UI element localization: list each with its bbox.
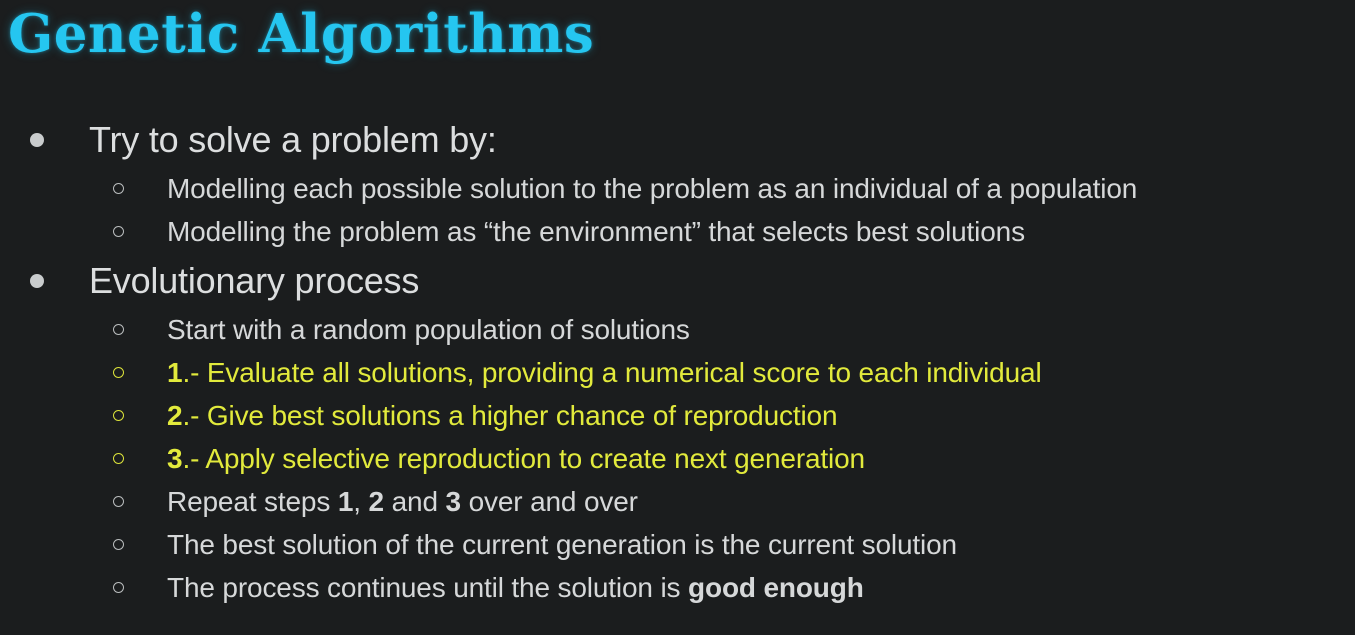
bullet-disc-icon [30,274,44,288]
bullet-row: The best solution of the current generat… [0,523,1355,566]
bullet-text: 2.- Give best solutions a higher chance … [167,394,837,437]
bullet-text: Modelling each possible solution to the … [167,167,1137,210]
bullet-text: Repeat steps 1, 2 and 3 over and over [167,480,638,523]
bullet-circle-icon [113,410,124,421]
bullet-circle-icon [113,496,124,507]
bullet-text: The best solution of the current generat… [167,523,957,566]
bullet-disc-icon [30,133,44,147]
slide: Genetic Algorithms Try to solve a proble… [0,0,1355,635]
bullet-row: 3.- Apply selective reproduction to crea… [0,437,1355,480]
bullet-circle-icon [113,183,124,194]
bullet-row: Modelling each possible solution to the … [0,167,1355,210]
bullet-circle-icon [113,539,124,550]
bullet-circle-icon [113,582,124,593]
bullet-circle-icon [113,453,124,464]
bullet-text: 3.- Apply selective reproduction to crea… [167,437,865,480]
bullet-circle-icon [113,324,124,335]
bullet-row: Modelling the problem as “the environmen… [0,210,1355,253]
bullet-circle-icon [113,226,124,237]
bullet-text: Try to solve a problem by: [89,112,497,167]
bullet-list: Try to solve a problem by:Modelling each… [0,112,1355,609]
bullet-row: 2.- Give best solutions a higher chance … [0,394,1355,437]
bullet-row: Repeat steps 1, 2 and 3 over and over [0,480,1355,523]
bullet-text: 1.- Evaluate all solutions, providing a … [167,351,1042,394]
bullet-row: 1.- Evaluate all solutions, providing a … [0,351,1355,394]
bullet-text: The process continues until the solution… [167,566,864,609]
bullet-row: Try to solve a problem by: [0,112,1355,167]
bullet-circle-icon [113,367,124,378]
slide-title: Genetic Algorithms [8,0,594,70]
bullet-text: Evolutionary process [89,253,419,308]
bullet-row: The process continues until the solution… [0,566,1355,609]
bullet-text: Start with a random population of soluti… [167,308,690,351]
bullet-row: Evolutionary process [0,253,1355,308]
bullet-text: Modelling the problem as “the environmen… [167,210,1025,253]
bullet-row: Start with a random population of soluti… [0,308,1355,351]
